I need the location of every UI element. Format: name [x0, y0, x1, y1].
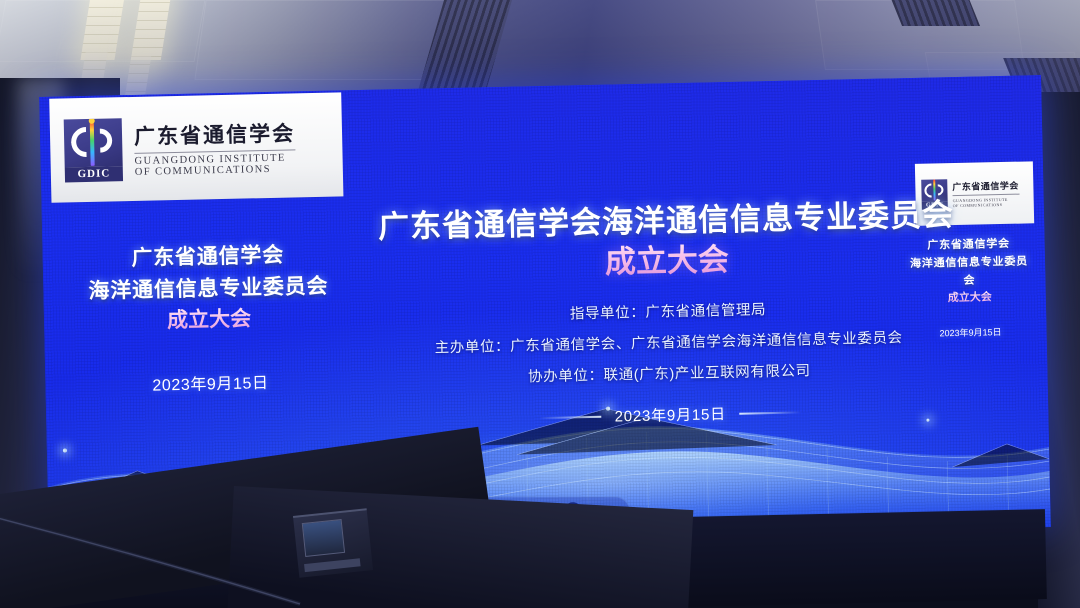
- laptop-keyboard: [304, 558, 361, 572]
- organizer-lines: 指导单位：广东省通信管理局 主办单位：广东省通信学会、广东省通信学会海洋通信信息…: [362, 291, 976, 398]
- logo-org-en-line2: OF COMMUNICATIONS: [135, 163, 296, 178]
- logo-text-block: 广东省通信学会 GUANGDONG INSTITUTE OF COMMUNICA…: [134, 117, 296, 177]
- right-panel-date: 2023年9月15日: [910, 325, 1030, 341]
- event-date: 2023年9月15日: [614, 404, 726, 427]
- laptop-screen: [302, 519, 345, 557]
- conference-photo-scene: GDIC 广东省通信学会 GUANGDONG INSTITUTE OF COMM…: [0, 0, 1080, 608]
- right-panel-line2: 海洋通信信息专业委员会: [909, 253, 1030, 291]
- logo-org-cn: 广东省通信学会: [134, 117, 296, 151]
- main-content-block: 广东省通信学会海洋通信信息专业委员会 成立大会 指导单位：广东省通信管理局 主办…: [360, 195, 977, 433]
- left-panel-line2: 海洋通信信息专业委员会: [67, 270, 350, 308]
- date-rule-left: [540, 416, 602, 419]
- header-logo-plate: GDIC 广东省通信学会 GUANGDONG INSTITUTE OF COMM…: [49, 92, 343, 202]
- right-side-panel: 广东省通信学会 海洋通信信息专业委员会 成立大会 2023年9月15日: [908, 235, 1030, 340]
- date-rule-right: [739, 411, 801, 414]
- gdic-logo-mark: GDIC: [64, 118, 123, 182]
- left-side-panel: 广东省通信学会 海洋通信信息专业委员会 成立大会 2023年9月15日: [66, 238, 351, 397]
- right-panel-line3: 成立大会: [910, 289, 1030, 309]
- logo-org-cn-small: 广东省通信学会: [952, 179, 1019, 193]
- laptop-device: [293, 508, 373, 577]
- left-panel-line3: 成立大会: [68, 301, 351, 339]
